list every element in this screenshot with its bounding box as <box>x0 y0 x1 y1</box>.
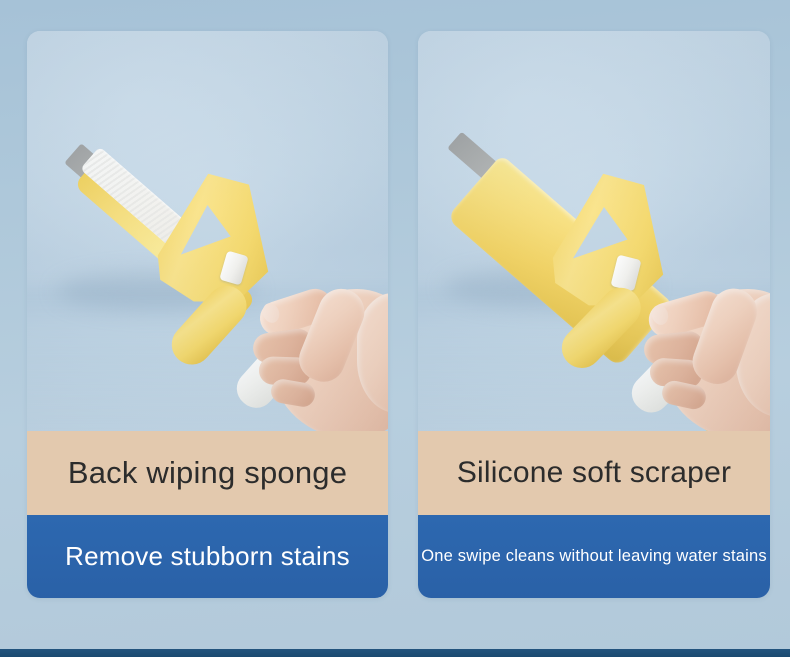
product-panel-sponge[interactable]: Back wiping sponge Remove stubborn stain… <box>27 31 388 598</box>
caption-secondary-text: Remove stubborn stains <box>65 541 350 572</box>
caption-primary-sponge: Back wiping sponge <box>27 431 388 515</box>
caption-secondary-scraper: One swipe cleans without leaving water s… <box>418 515 770 598</box>
photo-vignette <box>418 31 770 431</box>
product-photo-scraper <box>418 31 770 431</box>
product-panel-scraper[interactable]: Silicone soft scraper One swipe cleans w… <box>418 31 770 598</box>
caption-secondary-text: One swipe cleans without leaving water s… <box>421 547 767 566</box>
product-photo-sponge <box>27 31 388 431</box>
photo-vignette <box>27 31 388 431</box>
caption-primary-text: Silicone soft scraper <box>457 456 731 490</box>
caption-primary-scraper: Silicone soft scraper <box>418 431 770 515</box>
caption-primary-text: Back wiping sponge <box>68 455 347 491</box>
bottom-strip <box>0 649 790 657</box>
caption-secondary-sponge: Remove stubborn stains <box>27 515 388 598</box>
